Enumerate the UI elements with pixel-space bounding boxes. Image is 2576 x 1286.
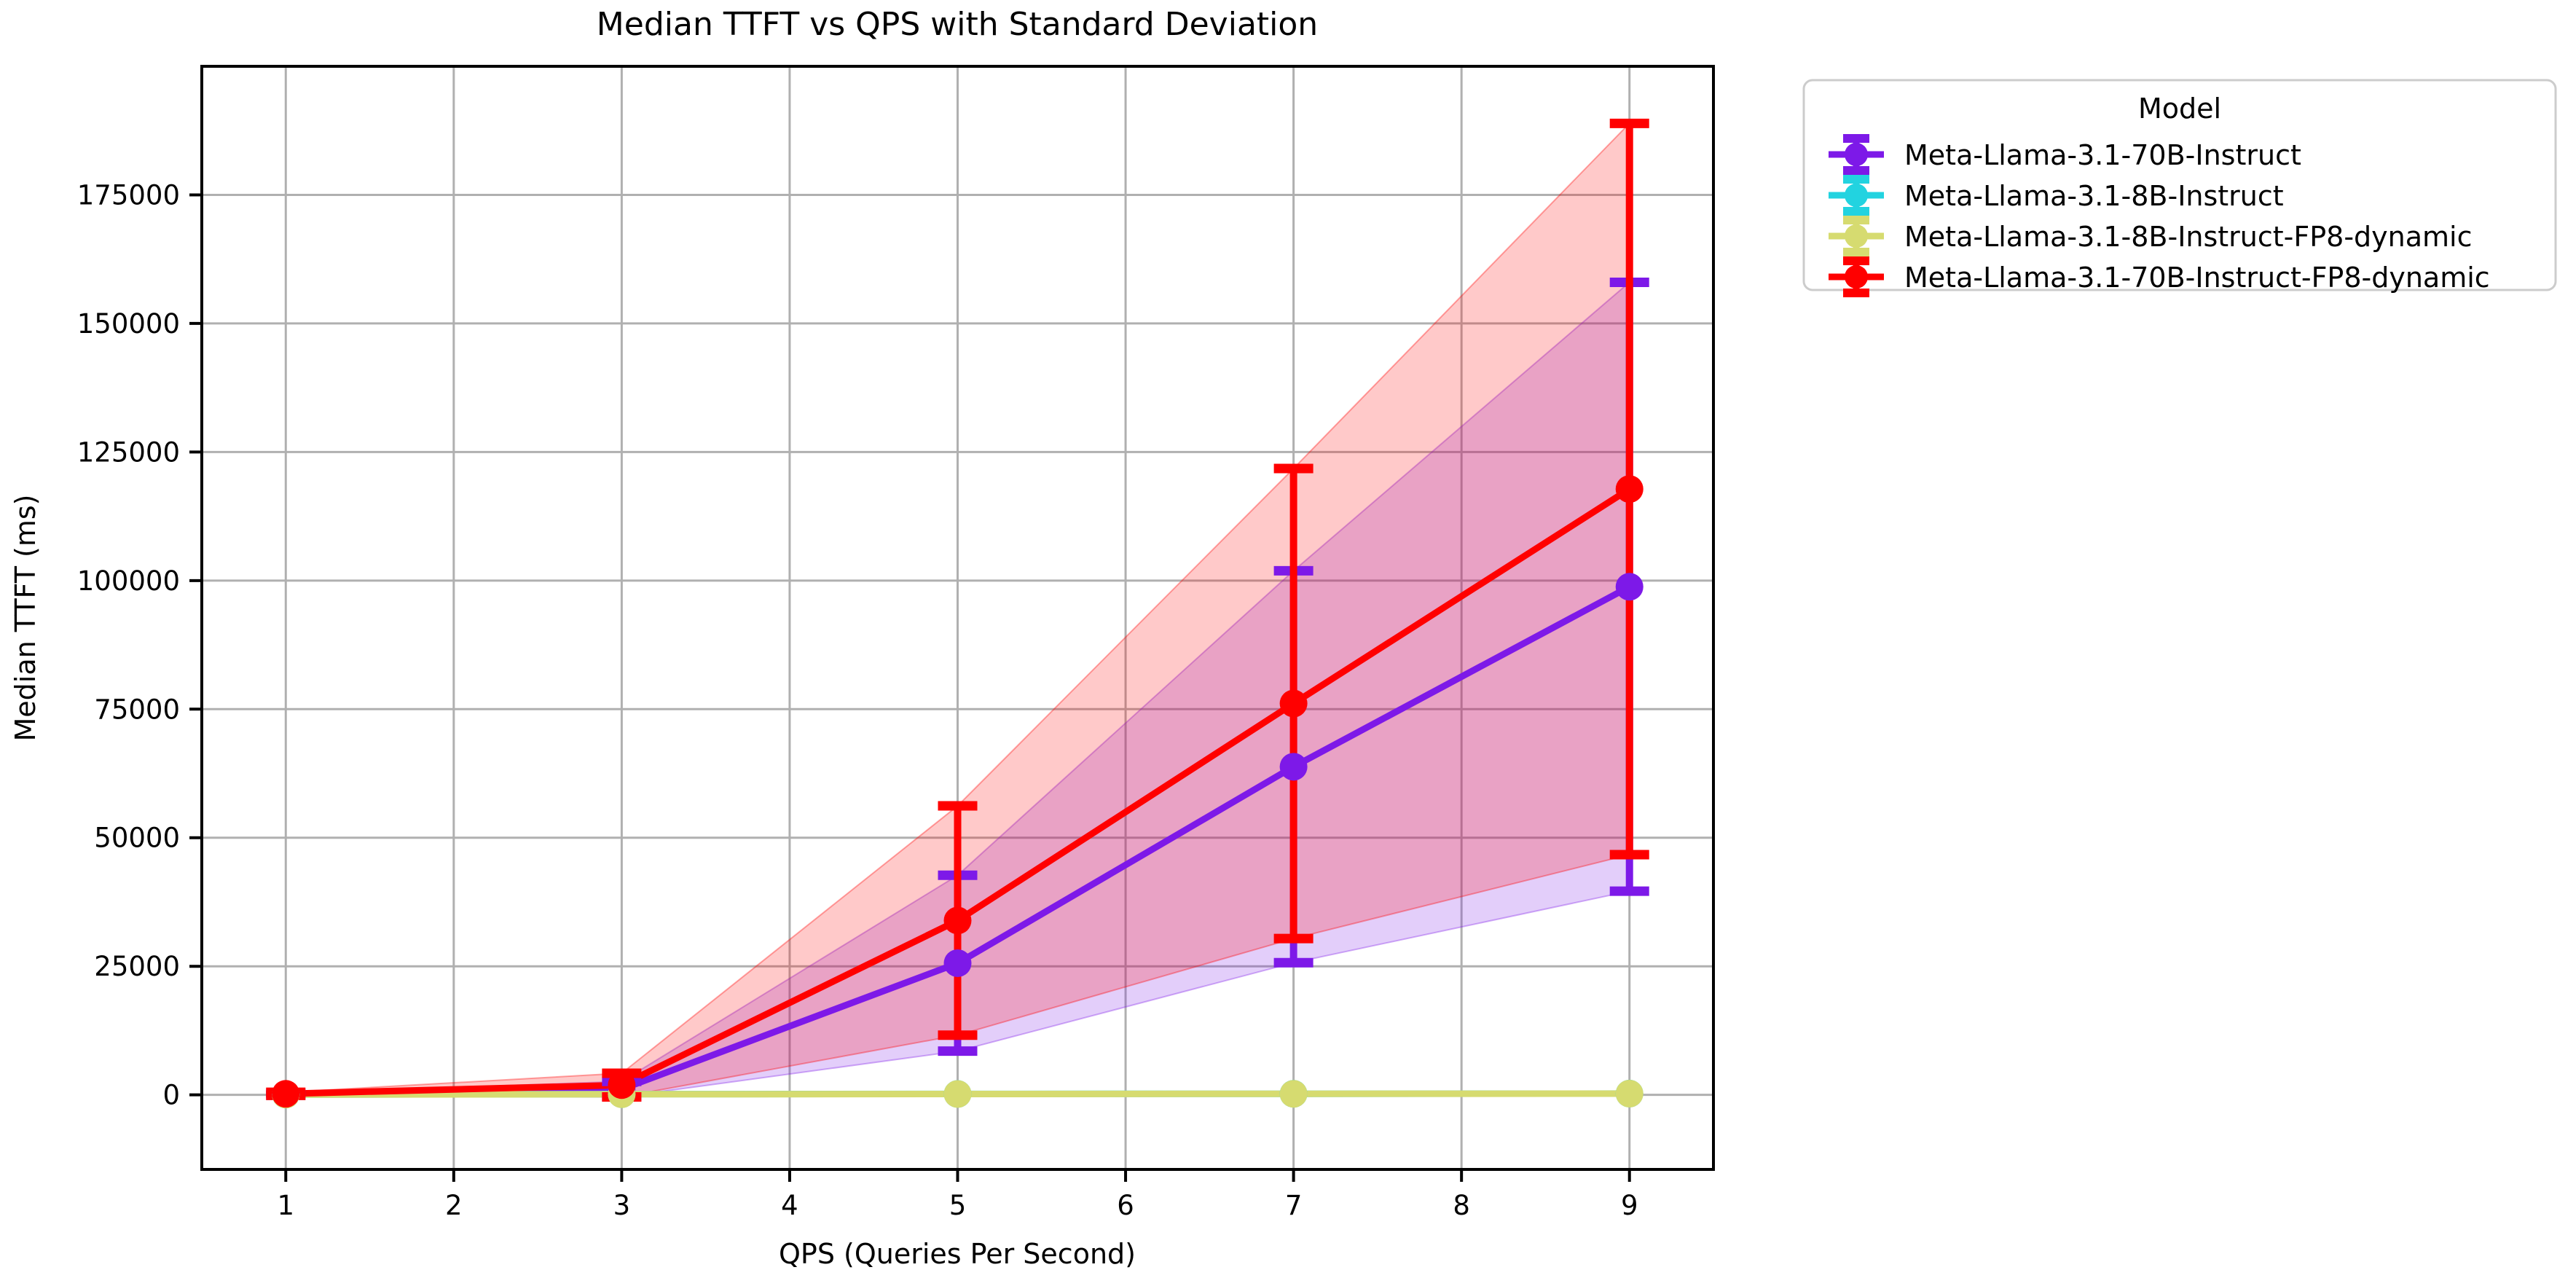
data-point-marker xyxy=(944,1080,972,1107)
legend-swatch-marker xyxy=(1845,184,1868,207)
y-tick-label: 75000 xyxy=(94,694,180,725)
data-point-marker xyxy=(944,906,972,934)
chart-title: Median TTFT vs QPS with Standard Deviati… xyxy=(597,6,1318,43)
data-point-marker xyxy=(1280,753,1308,780)
x-tick-label: 8 xyxy=(1453,1190,1470,1221)
legend-label[interactable]: Meta-Llama-3.1-8B-Instruct xyxy=(1904,180,2284,212)
legend-swatch-marker xyxy=(1845,265,1868,289)
legend-label[interactable]: Meta-Llama-3.1-8B-Instruct-FP8-dynamic xyxy=(1904,221,2473,253)
legend-title: Model xyxy=(2138,93,2221,125)
x-axis-label: QPS (Queries Per Second) xyxy=(779,1238,1136,1270)
y-tick-label: 150000 xyxy=(77,308,180,340)
x-tick-label: 9 xyxy=(1621,1190,1638,1221)
x-tick-label: 7 xyxy=(1285,1190,1303,1221)
y-tick-label: 25000 xyxy=(94,951,180,982)
legend-swatch-marker xyxy=(1845,143,1868,166)
data-point-marker xyxy=(1280,690,1308,718)
x-tick-label: 1 xyxy=(278,1190,295,1221)
y-axis-label: Median TTFT (ms) xyxy=(9,495,42,742)
data-point-marker xyxy=(1616,1080,1644,1107)
legend-label[interactable]: Meta-Llama-3.1-70B-Instruct-FP8-dynamic xyxy=(1904,262,2490,294)
y-tick-label: 0 xyxy=(162,1080,180,1111)
data-point-marker xyxy=(944,949,972,977)
chart-canvas: Median TTFT vs QPS with Standard Deviati… xyxy=(0,0,2576,1286)
y-tick-label: 100000 xyxy=(77,565,180,597)
legend: Model Meta-Llama-3.1-70B-InstructMeta-Ll… xyxy=(1804,80,2556,294)
data-point-marker xyxy=(1616,573,1644,600)
legend-label[interactable]: Meta-Llama-3.1-70B-Instruct xyxy=(1904,139,2301,171)
x-tick-label: 2 xyxy=(445,1190,463,1221)
data-point-marker xyxy=(1616,475,1644,503)
data-point-marker xyxy=(272,1080,299,1107)
chart-figure: Median TTFT vs QPS with Standard Deviati… xyxy=(0,0,2576,1286)
x-tick-label: 5 xyxy=(949,1190,967,1221)
data-point-marker xyxy=(608,1071,635,1099)
x-tick-label: 4 xyxy=(781,1190,798,1221)
x-tick-label: 6 xyxy=(1117,1190,1134,1221)
legend-swatch-marker xyxy=(1845,224,1868,248)
y-tick-label: 125000 xyxy=(77,436,180,468)
x-tick-label: 3 xyxy=(613,1190,631,1221)
y-tick-label: 175000 xyxy=(77,179,180,211)
y-tick-label: 50000 xyxy=(94,823,180,854)
data-point-marker xyxy=(1280,1080,1308,1107)
